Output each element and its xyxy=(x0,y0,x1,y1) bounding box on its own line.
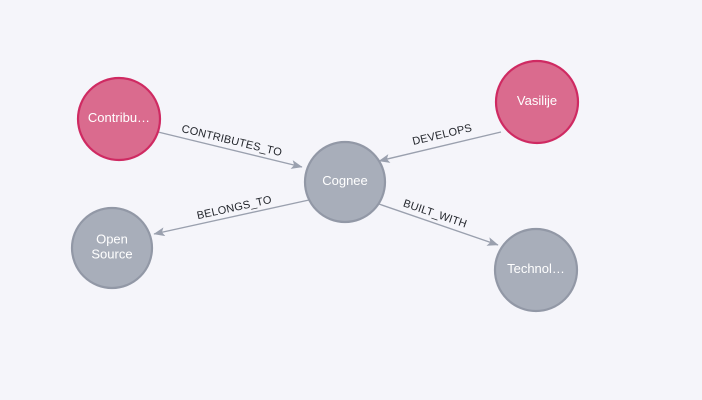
node-label-line: Contribu… xyxy=(88,110,150,125)
node-label-line: Technol… xyxy=(507,261,565,276)
node-label-line: Vasilije xyxy=(517,93,557,108)
nodes-layer: Contribu…VasilijeCogneeOpenSourceTechnol… xyxy=(72,61,578,311)
node-label-line: Open xyxy=(96,232,128,247)
node-label-technology: Technol… xyxy=(507,261,565,276)
graph-svg: Contribu…VasilijeCogneeOpenSourceTechnol… xyxy=(0,0,702,400)
edge-belongs-to-label: BELONGS_TO xyxy=(196,194,273,222)
node-label-open_source: OpenSource xyxy=(91,232,132,262)
node-label-cognee: Cognee xyxy=(322,173,368,188)
graph-visualization-canvas[interactable]: Contribu…VasilijeCogneeOpenSourceTechnol… xyxy=(0,0,702,400)
graph-node-contributor[interactable]: Contribu… xyxy=(78,78,160,160)
graph-node-cognee[interactable]: Cognee xyxy=(305,142,385,222)
graph-node-vasilije[interactable]: Vasilije xyxy=(496,61,578,143)
node-label-vasilije: Vasilije xyxy=(517,93,557,108)
graph-node-open_source[interactable]: OpenSource xyxy=(72,208,152,288)
edge-built-with-label: BUILT_WITH xyxy=(402,198,469,231)
node-label-line: Source xyxy=(91,247,132,262)
node-label-line: Cognee xyxy=(322,173,368,188)
node-label-contributor: Contribu… xyxy=(88,110,150,125)
graph-node-technology[interactable]: Technol… xyxy=(495,229,577,311)
edge-develops-label: DEVELOPS xyxy=(411,122,473,148)
